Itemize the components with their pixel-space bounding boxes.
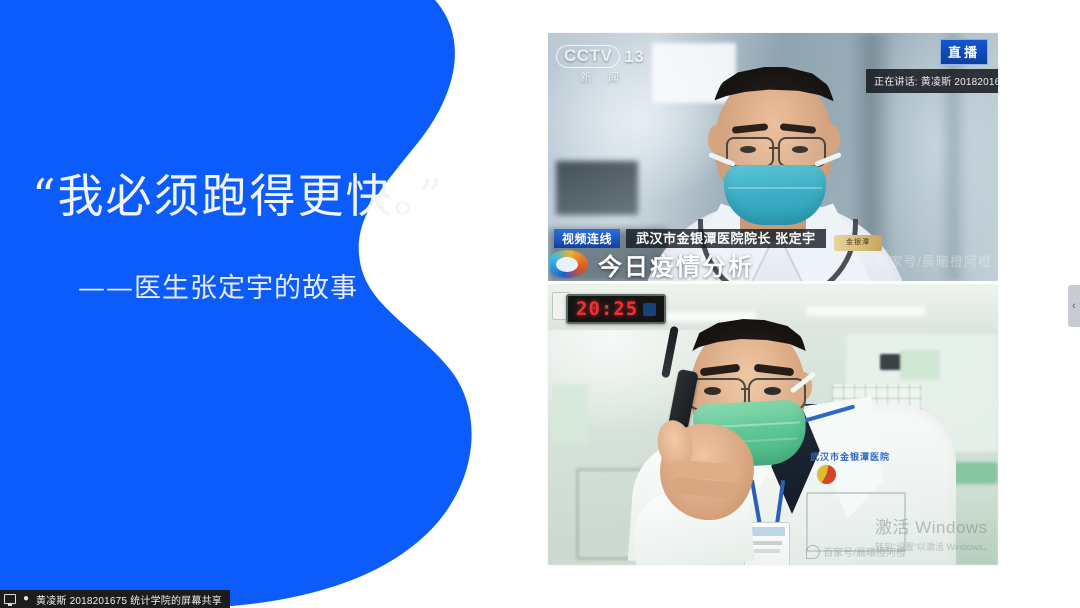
lower-third-graphics: 视频连线 武汉市金银潭医院院长 张定宇 今日疫情分析 百家号/晨曦橙阿橙 — [548, 229, 998, 281]
ceiling-light-2 — [806, 306, 926, 316]
slide-text-block: “我必须跑得更快。” ——医生张定宇的故事 — [0, 168, 470, 305]
lower-third-row-top: 视频连线 武汉市金银潭医院院长 张定宇 — [554, 229, 826, 248]
microphone-icon: ● — [20, 593, 32, 605]
wall-poster — [552, 384, 588, 444]
weibo-icon — [806, 545, 820, 559]
video-link-tag: 视频连线 — [554, 229, 620, 248]
monitor-icon — [4, 593, 16, 605]
news-headline: 今日疫情分析 — [598, 247, 754, 282]
screen-share-label: 黄凌斯 2018201675 统计学院的屏幕共享 — [36, 592, 222, 607]
mask-fold — [728, 187, 822, 189]
cctv-news-video: 金银潭 CCTV 13 新 闻 CCTV.com 直播 视频连线 武汉市金 — [548, 33, 998, 281]
lower-third-row-headline: 今日疫情分析 — [548, 249, 754, 279]
led-wall-clock: 20:25 — [566, 294, 666, 324]
slide-quote: “我必须跑得更快。” — [0, 168, 470, 226]
doctor-ear-right — [824, 125, 840, 153]
cctv-channel-name: 新 闻 — [556, 69, 644, 85]
shared-screen-area: “我必须跑得更快。” ——医生张定宇的故事 — [0, 0, 1080, 608]
clock-time: 20:25 — [576, 298, 638, 320]
panel-collapse-toggle[interactable]: ‹ — [1068, 285, 1080, 327]
cctv-channel-number: 13 — [624, 47, 644, 67]
wall-note — [900, 350, 940, 380]
screen-share-status-bar: ● 黄凌斯 2018201675 统计学院的屏幕共享 — [0, 590, 230, 608]
coat-emblem — [816, 464, 837, 485]
windows-activation-title: 激活 Windows — [875, 513, 992, 538]
hospital-press-photo: 20:25 武汉市金银潭医院 — [548, 284, 998, 565]
coat-hospital-logo: 武汉市金银潭医院 — [810, 450, 888, 462]
chevron-left-icon: ‹ — [1072, 300, 1076, 312]
live-badge: 直播 — [940, 39, 988, 65]
doctor-ear-left — [708, 125, 724, 153]
clock-indicator — [643, 303, 656, 316]
doctor2-glasses-bridge — [741, 388, 750, 390]
cctv-wordmark: CCTV — [556, 45, 620, 68]
cctv-channel-logo: CCTV 13 新 闻 — [556, 45, 644, 85]
guest-name-title: 武汉市金银潭医院院长 张定宇 — [626, 229, 826, 248]
windows-activation-watermark: 激活 Windows 转到“设置”以激活 Windows。 — [875, 513, 992, 553]
media-column: 金银潭 CCTV 13 新 闻 CCTV.com 直播 视频连线 武汉市金 — [548, 33, 998, 565]
doctor-face-mask — [724, 165, 826, 225]
background-equipment — [556, 161, 638, 215]
video-source-watermark: 百家号/晨曦橙阿橙 — [875, 251, 992, 270]
live-badge-label: 直播 — [940, 39, 988, 65]
cctv-swirl-icon — [550, 249, 596, 279]
doctor-glasses-bridge — [769, 147, 779, 149]
windows-activation-subtitle: 转到“设置”以激活 Windows。 — [875, 540, 992, 553]
slide-attribution: ——医生张定宇的故事 — [0, 266, 470, 305]
active-speaker-tooltip: 正在讲话: 黄凌斯 2018201675 统计学院 — [866, 69, 998, 93]
